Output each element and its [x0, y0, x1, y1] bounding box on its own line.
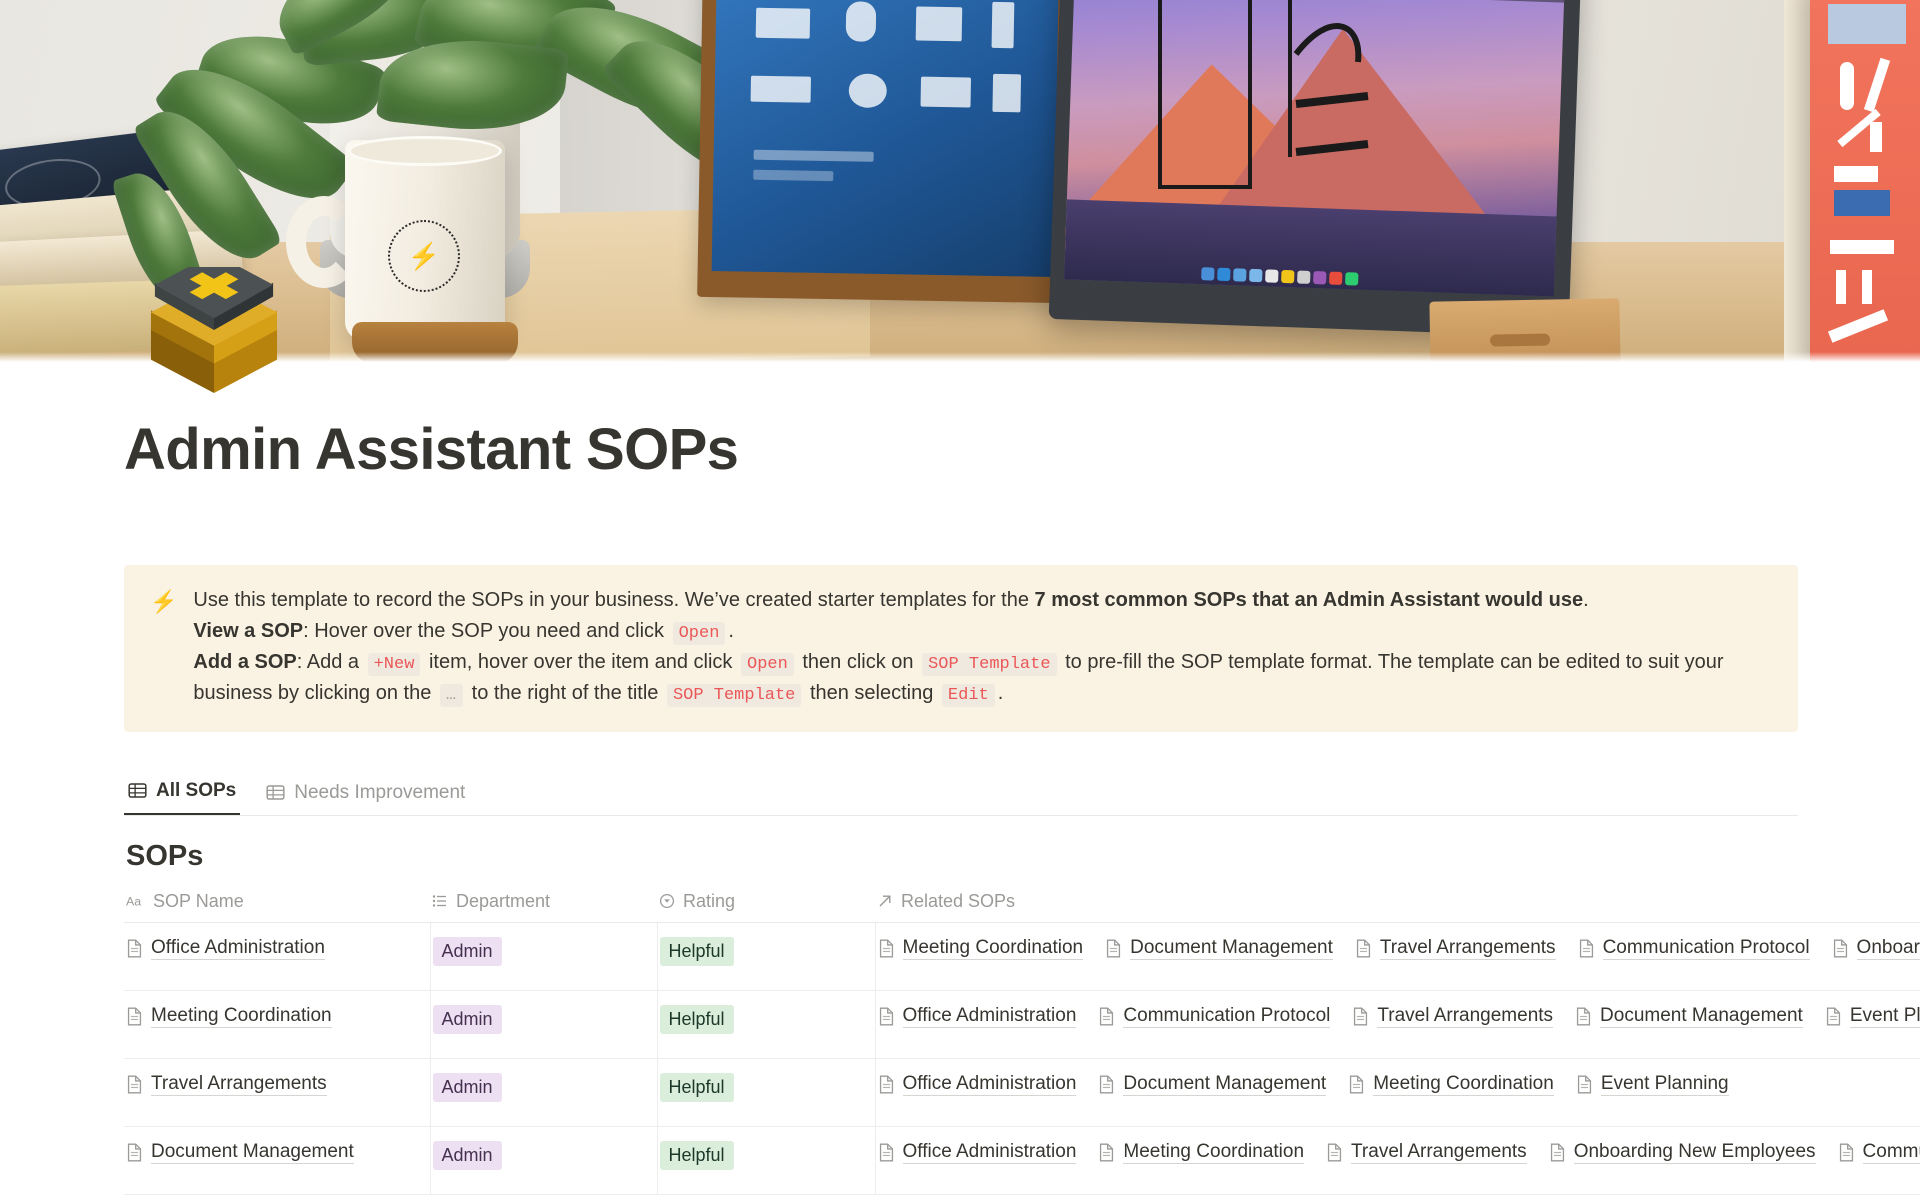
page-doc-icon	[1838, 1143, 1855, 1162]
table-icon	[266, 783, 285, 802]
page-doc-icon	[878, 939, 895, 958]
callout-line-1: Use this template to record the SOPs in …	[193, 585, 1770, 616]
related-sop-item[interactable]: Document Management	[1098, 1073, 1326, 1096]
callout-block: ⚡ Use this template to record the SOPs i…	[124, 565, 1798, 732]
cell-related-sops[interactable]: Office Administration Communication Prot…	[875, 990, 1920, 1058]
related-sop-label: Office Administration	[903, 1141, 1077, 1164]
page-content: Admin Assistant SOPs ⚡ Use this template…	[0, 418, 1920, 1195]
sop-name-label: Meeting Coordination	[151, 1005, 332, 1028]
related-sop-item[interactable]: Communication Protocol	[1838, 1141, 1920, 1164]
page-doc-icon	[1825, 1007, 1842, 1026]
page-doc-icon	[1098, 1007, 1115, 1026]
page-doc-icon	[1352, 1007, 1369, 1026]
tab-all-sops-label: All SOPs	[156, 780, 236, 802]
related-sop-item[interactable]: Onboarding New Employees	[1549, 1141, 1816, 1164]
department-tag: Admin	[433, 1073, 502, 1103]
rating-tag: Helpful	[660, 1005, 734, 1035]
page-doc-icon	[878, 1143, 895, 1162]
code-open-1: Open	[673, 622, 726, 645]
sop-name-label: Travel Arrangements	[151, 1073, 327, 1096]
cell-related-sops[interactable]: Meeting Coordination Document Management…	[875, 922, 1920, 990]
whiteboard-sketch-icon	[1100, 0, 1520, 212]
select-icon	[659, 893, 675, 909]
sop-name-label: Document Management	[151, 1141, 354, 1164]
cell-department[interactable]: Admin	[430, 990, 657, 1058]
related-sop-label: Communication Protocol	[1603, 937, 1810, 960]
related-sop-label: Meeting Coordination	[1373, 1073, 1554, 1096]
cover-photo: ⚡	[0, 0, 1920, 362]
svg-text:Aa: Aa	[126, 895, 141, 908]
related-sop-label: Travel Arrangements	[1380, 937, 1556, 960]
page-doc-icon	[878, 1075, 895, 1094]
cell-related-sops[interactable]: Office Administration Meeting Coordinati…	[875, 1126, 1920, 1194]
callout-line3-text-6: then selecting	[804, 682, 939, 704]
table-body: Office Administration Admin Helpful	[124, 922, 1920, 1194]
cell-department[interactable]: Admin	[430, 1126, 657, 1194]
column-header-sop-name[interactable]: Aa SOP Name	[124, 885, 430, 923]
cell-rating[interactable]: Helpful	[657, 1058, 875, 1126]
sops-table: Aa SOP Name	[124, 885, 1920, 1195]
related-sop-label: Meeting Coordination	[903, 937, 1084, 960]
related-sop-item[interactable]: Onboarding New Employees	[1832, 937, 1920, 960]
page-doc-icon	[1576, 1075, 1593, 1094]
database-view-tabs: All SOPs Needs Improvement	[124, 772, 1798, 816]
related-sop-item[interactable]: Meeting Coordination	[1348, 1073, 1554, 1096]
callout-line1-text: Use this template to record the SOPs in …	[193, 589, 1034, 611]
cell-sop-name[interactable]: Meeting Coordination	[124, 990, 430, 1058]
page-doc-icon	[126, 1007, 143, 1026]
column-header-department[interactable]: Department	[430, 885, 657, 923]
page-cover: ⚡	[0, 0, 1920, 362]
tab-needs-improvement[interactable]: Needs Improvement	[262, 774, 469, 815]
related-sop-label: Travel Arrangements	[1377, 1005, 1553, 1028]
page-doc-icon	[1832, 939, 1849, 958]
cell-department[interactable]: Admin	[430, 922, 657, 990]
related-sop-label: Office Administration	[903, 1073, 1077, 1096]
code-new: +New	[368, 653, 421, 676]
page-doc-icon	[126, 1143, 143, 1162]
column-header-department-label: Department	[456, 891, 550, 912]
page-doc-icon	[1098, 1075, 1115, 1094]
cell-rating[interactable]: Helpful	[657, 990, 875, 1058]
related-sop-item[interactable]: Travel Arrangements	[1326, 1141, 1527, 1164]
code-edit: Edit	[942, 684, 995, 707]
tab-needs-improvement-label: Needs Improvement	[294, 782, 465, 804]
title-aa-icon: Aa	[126, 894, 145, 908]
related-sop-label: Document Management	[1130, 937, 1333, 960]
related-sop-label: Onboarding New Employees	[1574, 1141, 1816, 1164]
related-sop-label: Document Management	[1123, 1073, 1326, 1096]
column-header-related-sops-label: Related SOPs	[901, 891, 1015, 912]
rating-tag: Helpful	[660, 1073, 734, 1103]
table-row[interactable]: Document Management Admin Helpful Of	[124, 1126, 1920, 1194]
related-sop-label: Event Planning	[1850, 1005, 1920, 1028]
related-sop-label: Communication Protocol	[1123, 1005, 1330, 1028]
sop-name-label: Office Administration	[151, 937, 325, 960]
cell-rating[interactable]: Helpful	[657, 1126, 875, 1194]
page-title: Admin Assistant SOPs	[124, 418, 1798, 482]
related-sop-label: Document Management	[1600, 1005, 1803, 1028]
page-doc-icon	[1549, 1143, 1566, 1162]
callout-line-2: View a SOP: Hover over the SOP you need …	[193, 616, 1770, 647]
callout-line3-text-5: to the right of the title	[466, 682, 664, 704]
related-sop-item[interactable]: Document Management	[1575, 1005, 1803, 1028]
related-sop-label: Office Administration	[903, 1005, 1077, 1028]
rating-tag: Helpful	[660, 1141, 734, 1171]
department-tag: Admin	[433, 1141, 502, 1171]
relation-arrow-icon	[877, 893, 893, 909]
callout-line3-text-1: : Add a	[297, 651, 365, 673]
table-icon	[128, 781, 147, 800]
cell-sop-name[interactable]: Document Management	[124, 1126, 430, 1194]
page-doc-icon	[1348, 1075, 1365, 1094]
related-sop-item[interactable]: Communication Protocol	[1098, 1005, 1330, 1028]
code-ellipsis: …	[440, 684, 463, 707]
add-a-sop-label: Add a SOP	[193, 651, 296, 673]
department-tag: Admin	[433, 937, 502, 967]
related-sop-item[interactable]: Travel Arrangements	[1352, 1005, 1553, 1028]
callout-line3-text-3: then click on	[797, 651, 919, 673]
column-header-related-sops[interactable]: Related SOPs	[875, 885, 1920, 923]
cell-sop-name[interactable]: Travel Arrangements	[124, 1058, 430, 1126]
related-sop-label: Meeting Coordination	[1123, 1141, 1304, 1164]
cell-rating[interactable]: Helpful	[657, 922, 875, 990]
related-sop-item[interactable]: Communication Protocol	[1578, 937, 1810, 960]
callout-line1-bold: 7 most common SOPs that an Admin Assista…	[1035, 589, 1584, 611]
code-sop-template-1: SOP Template	[922, 653, 1056, 676]
related-sop-label: Travel Arrangements	[1351, 1141, 1527, 1164]
page-doc-icon	[126, 1075, 143, 1094]
cell-department[interactable]: Admin	[430, 1058, 657, 1126]
related-sop-item[interactable]: Office Administration	[878, 1073, 1077, 1096]
callout-line-3: Add a SOP: Add a +New item, hover over t…	[193, 647, 1770, 710]
table-header-row: Aa SOP Name	[124, 885, 1920, 923]
table-row[interactable]: Office Administration Admin Helpful	[124, 922, 1920, 990]
callout-line3-end: .	[998, 682, 1004, 704]
column-header-rating[interactable]: Rating	[657, 885, 875, 923]
related-sop-label: Communication Protocol	[1863, 1141, 1920, 1164]
column-header-rating-label: Rating	[683, 891, 735, 912]
page-icon-yellow-x-block[interactable]	[145, 267, 283, 397]
related-sop-item[interactable]: Office Administration	[878, 1005, 1077, 1028]
callout-line2-text: : Hover over the SOP you need and click	[303, 620, 670, 642]
callout-line1-end: .	[1583, 589, 1589, 611]
page-doc-icon	[126, 939, 143, 958]
related-sop-label: Event Planning	[1601, 1073, 1729, 1096]
cell-related-sops[interactable]: Office Administration Document Managemen…	[875, 1058, 1920, 1126]
related-sop-label: Onboarding New Employees	[1857, 937, 1920, 960]
multi-select-icon	[432, 893, 448, 909]
table-row[interactable]: Travel Arrangements Admin Helpful Of	[124, 1058, 1920, 1126]
page-doc-icon	[1098, 1143, 1115, 1162]
page-doc-icon	[1326, 1143, 1343, 1162]
page-doc-icon	[1355, 939, 1372, 958]
code-sop-template-2: SOP Template	[667, 684, 801, 707]
page-doc-icon	[1578, 939, 1595, 958]
related-sop-item[interactable]: Meeting Coordination	[1098, 1141, 1304, 1164]
related-sop-item[interactable]: Document Management	[1105, 937, 1333, 960]
callout-line3-text-2: item, hover over the item and click	[423, 651, 738, 673]
table-row[interactable]: Meeting Coordination Admin Helpful O	[124, 990, 1920, 1058]
related-sop-item[interactable]: Office Administration	[878, 1141, 1077, 1164]
page-doc-icon	[1105, 939, 1122, 958]
code-open-2: Open	[741, 653, 794, 676]
callout-line2-end: .	[728, 620, 734, 642]
page-doc-icon	[878, 1007, 895, 1026]
department-tag: Admin	[433, 1005, 502, 1035]
database-title[interactable]: SOPs	[126, 840, 1798, 873]
page-doc-icon	[1575, 1007, 1592, 1026]
related-sop-item[interactable]: Meeting Coordination	[878, 937, 1084, 960]
cell-sop-name[interactable]: Office Administration	[124, 922, 430, 990]
rating-tag: Helpful	[660, 937, 734, 967]
tab-all-sops[interactable]: All SOPs	[124, 772, 240, 815]
lightning-icon: ⚡	[150, 585, 177, 710]
related-sop-item[interactable]: Event Planning	[1825, 1005, 1920, 1028]
column-header-sop-name-label: SOP Name	[153, 891, 244, 912]
related-sop-item[interactable]: Event Planning	[1576, 1073, 1729, 1096]
related-sop-item[interactable]: Travel Arrangements	[1355, 937, 1556, 960]
view-a-sop-label: View a SOP	[193, 620, 303, 642]
